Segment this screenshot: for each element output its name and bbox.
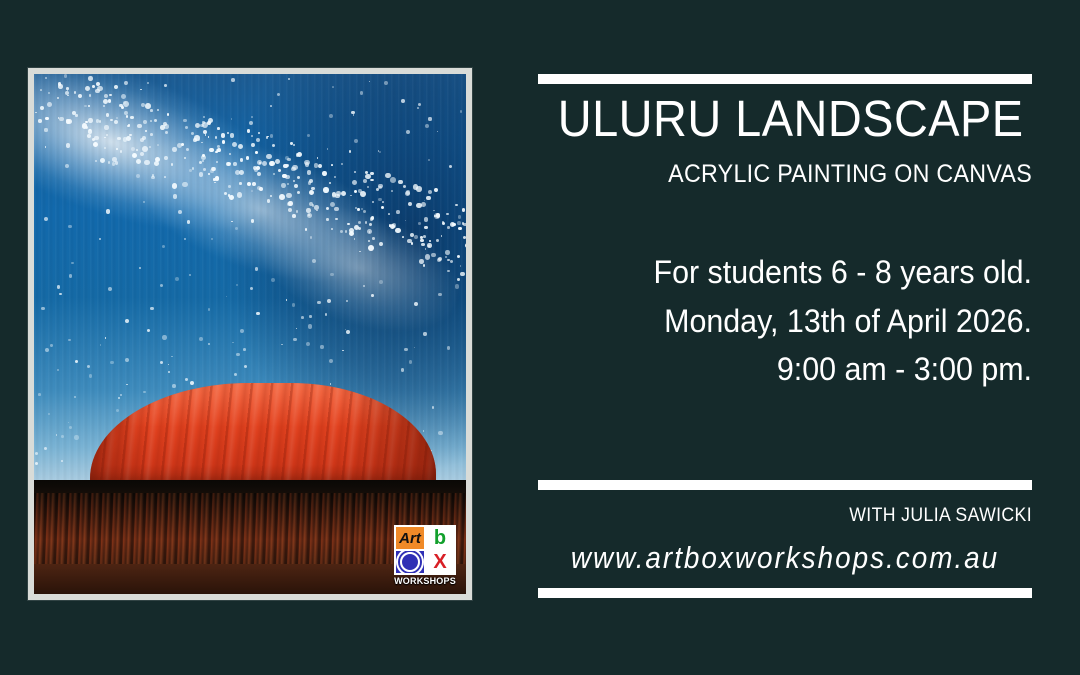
spiral-icon [400, 552, 420, 572]
logo-cell-art: Art [395, 526, 425, 550]
logo-cell-b: b [425, 526, 455, 550]
logo-cell-x: X [425, 550, 455, 574]
artbox-logo: Art b X WORKSHOPS [394, 525, 456, 586]
logo-wordmark: WORKSHOPS [394, 576, 456, 586]
page-title: ULURU LANDSCAPE [558, 92, 1012, 145]
detail-age: For students 6 - 8 years old. [563, 248, 1032, 297]
uluru-rock [90, 383, 436, 487]
divider-bar-bottom [538, 588, 1032, 598]
artwork-canvas: Art b X WORKSHOPS [34, 74, 466, 594]
rock-left-shadow [90, 383, 145, 487]
artwork-frame: Art b X WORKSHOPS [28, 68, 472, 600]
workshop-details: For students 6 - 8 years old. Monday, 13… [563, 248, 1032, 394]
presenter-credit: WITH JULIA SAWICKI [573, 505, 1032, 527]
divider-bar-top [538, 74, 1032, 84]
divider-bar-middle [538, 480, 1032, 490]
page-subtitle: ACRYLIC PAINTING ON CANVAS [573, 160, 1032, 189]
detail-date: Monday, 13th of April 2026. [563, 297, 1032, 346]
website-url[interactable]: www.artboxworkshops.com.au [563, 540, 1008, 576]
rock-right-shadow [346, 383, 436, 487]
logo-cell-o-spiral [395, 550, 425, 574]
logo-grid: Art b X [394, 525, 456, 575]
detail-time: 9:00 am - 3:00 pm. [563, 345, 1032, 394]
poster: Art b X WORKSHOPS ULURU LANDSCAPE ACRYLI… [0, 0, 1080, 675]
